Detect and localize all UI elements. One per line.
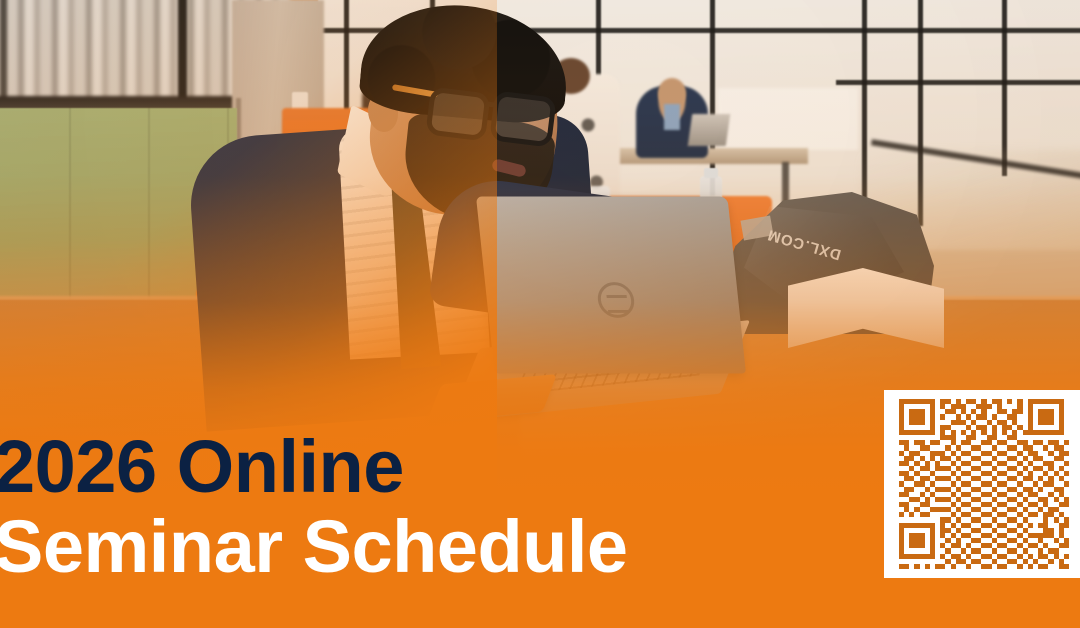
qr-code-panel[interactable]: [884, 390, 1080, 578]
headline-line-1: 2026 Online: [0, 429, 860, 504]
qr-code[interactable]: [899, 399, 1069, 569]
seminar-schedule-banner: DXL.COM 2026 Online Seminar Schedule: [0, 0, 1080, 628]
headline-line-2: Seminar Schedule: [0, 509, 860, 584]
headline-block: 2026 Online Seminar Schedule: [0, 429, 860, 588]
